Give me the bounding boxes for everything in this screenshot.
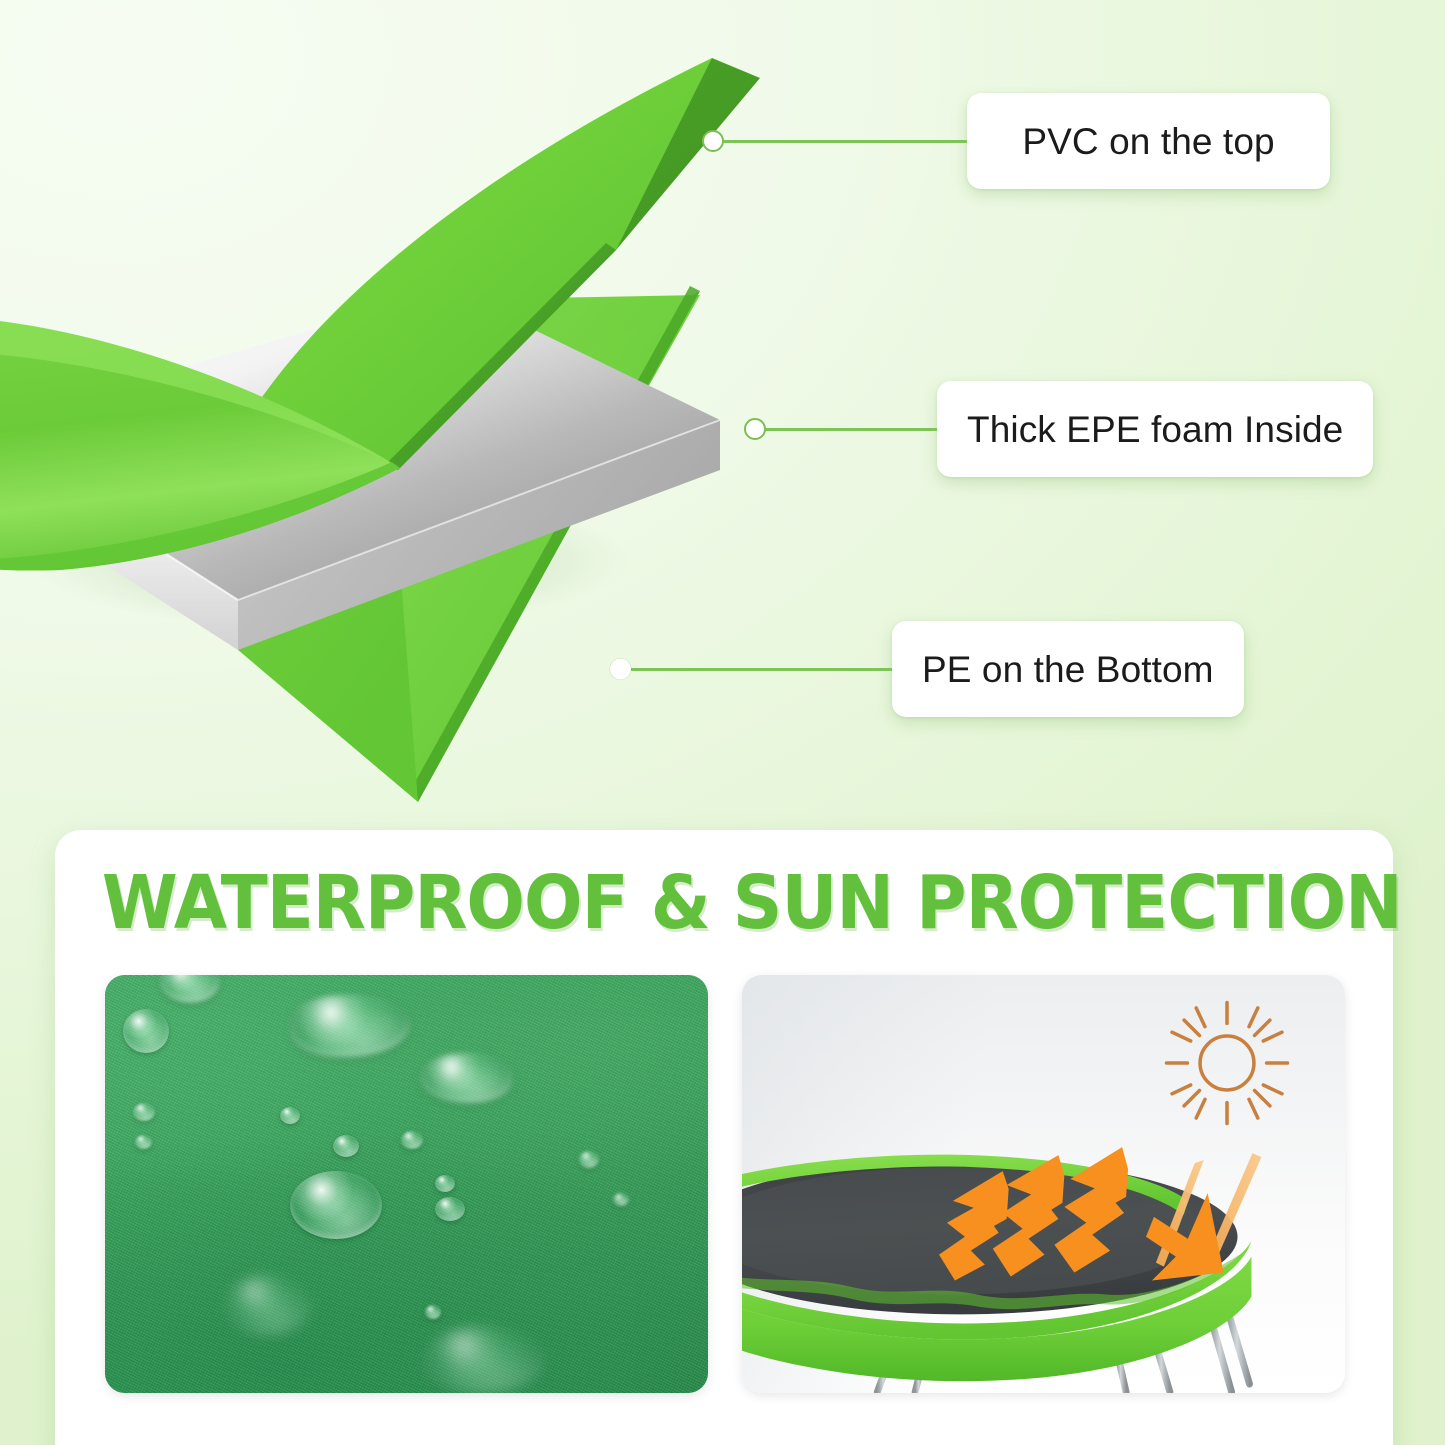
fabric-weave-blur xyxy=(105,975,708,1393)
water-droplet xyxy=(401,1131,423,1149)
water-droplet xyxy=(613,1193,629,1206)
callout-label-text: Thick EPE foam Inside xyxy=(967,411,1343,448)
water-droplet xyxy=(579,1151,599,1168)
callout-leader-line xyxy=(621,668,892,671)
water-droplet xyxy=(435,1197,465,1221)
water-droplet xyxy=(333,1135,359,1157)
water-droplet xyxy=(290,1171,382,1239)
callout-pvc-on-the-top: PVC on the top xyxy=(713,93,1330,189)
water-droplet xyxy=(425,1305,441,1319)
callout-node-dot xyxy=(744,418,766,440)
water-droplet xyxy=(135,1135,152,1149)
callout-label-chip: PE on the Bottom xyxy=(892,621,1244,717)
product-feature-infographic: PVC on the top Thick EPE foam Inside PE … xyxy=(0,0,1445,1445)
water-droplet xyxy=(225,1275,311,1335)
callout-label-chip: Thick EPE foam Inside xyxy=(937,381,1373,477)
water-droplet xyxy=(133,1103,155,1121)
sun-icon xyxy=(1161,997,1293,1129)
sun-protection-photo-panel: Green trampoline safety pad reflecting s… xyxy=(742,975,1345,1393)
callout-node-dot xyxy=(610,659,631,680)
callout-pe-on-the-bottom: PE on the Bottom xyxy=(621,621,1244,717)
waterproof-photo-panel xyxy=(105,975,708,1393)
feature-photo-panels: Green trampoline safety pad reflecting s… xyxy=(105,975,1345,1393)
water-droplet xyxy=(280,1107,300,1124)
water-droplet xyxy=(423,1327,543,1393)
feature-card: WATERPROOF & SUN PROTECTION xyxy=(55,830,1393,1445)
callout-thick-epe-foam-inside: Thick EPE foam Inside xyxy=(755,381,1373,477)
water-droplet xyxy=(123,1009,169,1053)
callout-label-text: PVC on the top xyxy=(1022,123,1274,160)
water-droplet xyxy=(420,1053,512,1103)
callout-label-chip: PVC on the top xyxy=(967,93,1330,189)
water-droplet xyxy=(435,1175,455,1192)
callout-node-dot xyxy=(702,130,724,152)
callout-leader-line xyxy=(755,428,937,431)
callout-leader-line xyxy=(713,140,967,143)
feature-card-title: WATERPROOF & SUN PROTECTION xyxy=(102,866,1346,940)
callout-label-text: PE on the Bottom xyxy=(922,651,1214,688)
